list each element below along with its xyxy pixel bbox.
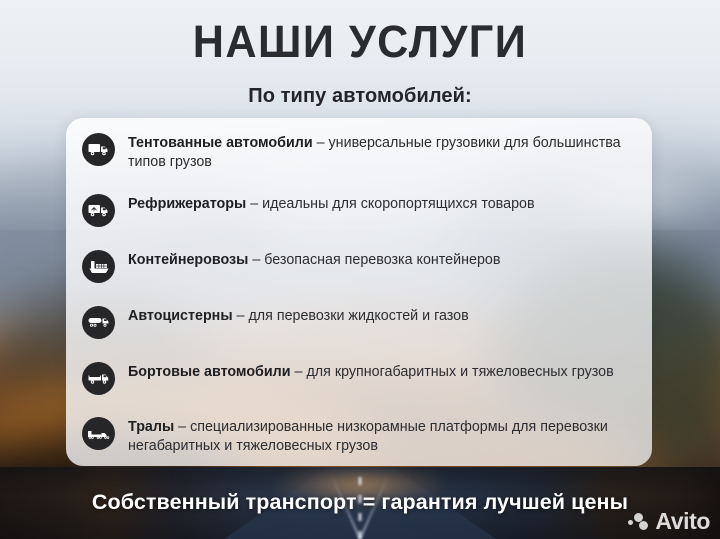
list-item-text: Рефрижераторы – идеальны для скоропортящ… [128,193,535,214]
avito-watermark-label: Avito [655,510,710,533]
list-item-rest: – специализированные низкорамные платфор… [128,419,608,454]
lowboy-trailer-icon [82,417,115,450]
list-item-lead: Рефрижераторы [128,196,246,212]
tanker-truck-icon [82,306,115,339]
list-item-lead: Бортовые автомобили [128,364,291,380]
list-item-rest: – для крупногабаритных и тяжеловесных гр… [291,364,614,380]
list-item: Тралы – специализированные низкорамные п… [82,416,634,456]
list-item-rest: – безопасная перевозка контейнеров [248,252,500,268]
list-item-text: Тентованные автомобили – универсальные г… [128,132,634,172]
avito-watermark: Avito [628,510,710,533]
list-item-text: Тралы – специализированные низкорамные п… [128,416,634,456]
list-item: Контейнеровозы – безопасная перевозка ко… [82,249,634,283]
list-item-text: Бортовые автомобили – для крупногабаритн… [128,361,614,382]
page-subtitle: По типу автомобилей: [0,85,720,108]
box-truck-icon [82,133,115,166]
list-item-lead: Тралы [128,419,174,435]
list-item-rest: – идеальны для скоропортящихся товаров [246,196,534,212]
flatbed-truck-icon [82,362,115,395]
list-item-lead: Контейнеровозы [128,252,248,268]
service-poster: НАШИ УСЛУГИ По типу автомобилей: Тентова… [0,0,720,539]
page-title: НАШИ УСЛУГИ [14,18,705,65]
list-item-text: Контейнеровозы – безопасная перевозка ко… [128,249,500,270]
avito-logo-icon [628,513,650,531]
list-item-lead: Тентованные автомобили [128,135,313,151]
list-item: Рефрижераторы – идеальны для скоропортящ… [82,193,634,227]
list-item: Автоцистерны – для перевозки жидкостей и… [82,305,634,339]
list-item: Бортовые автомобили – для крупногабаритн… [82,361,634,395]
footer-tagline: Собственный транспорт = гарантия лучшей … [0,490,720,515]
container-ship-icon [82,250,115,283]
services-card: Тентованные автомобили – универсальные г… [66,118,652,466]
list-item-rest: – для перевозки жидкостей и газов [233,308,469,324]
refrigerated-truck-icon [82,194,115,227]
list-item: Тентованные автомобили – универсальные г… [82,132,634,172]
list-item-text: Автоцистерны – для перевозки жидкостей и… [128,305,469,326]
list-item-lead: Автоцистерны [128,308,233,324]
